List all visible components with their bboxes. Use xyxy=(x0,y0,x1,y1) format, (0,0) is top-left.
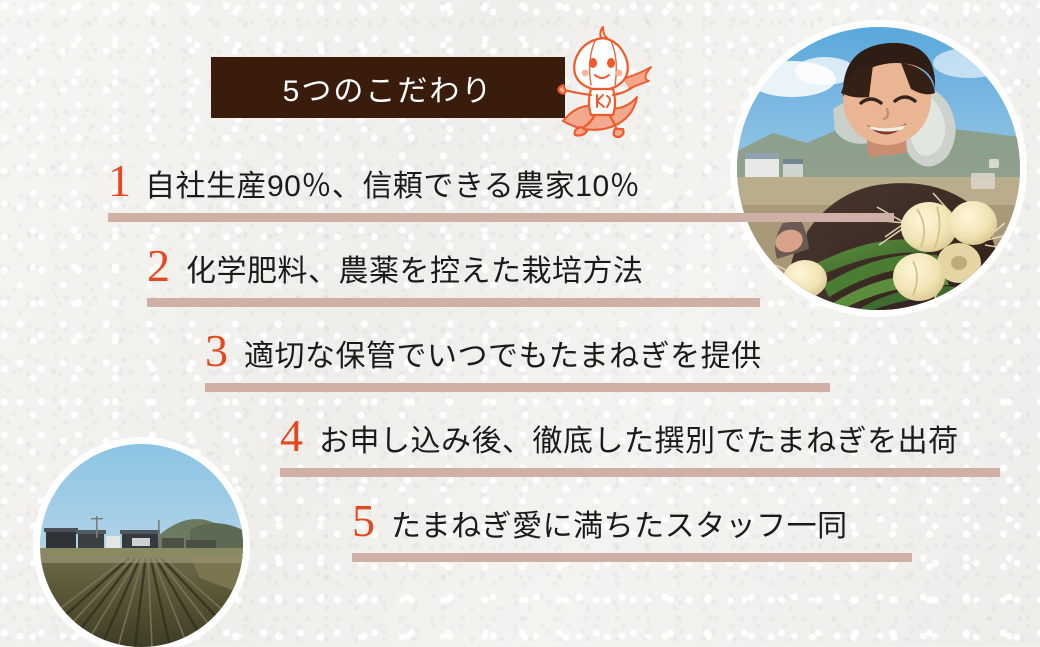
feature-underline-5 xyxy=(352,553,912,562)
feature-number-4: 4 xyxy=(280,413,303,459)
feature-text-1: 自社生産90％、信頼できる農家10％ xyxy=(145,170,640,203)
feature-text-5: たまねぎ愛に満ちたスタッフ一同 xyxy=(391,510,848,543)
feature-number-5: 5 xyxy=(352,498,375,544)
feature-row-4: 4 お申し込み後、徹底した撰別でたまねぎを出荷 xyxy=(280,413,1000,477)
feature-text-2: 化学肥料、農薬を控えた栽培方法 xyxy=(186,255,644,288)
feature-row-3: 3 適切な保管でいつでもたまねぎを提供 xyxy=(205,328,830,392)
feature-underline-3 xyxy=(205,383,830,392)
feature-number-3: 3 xyxy=(205,328,228,374)
feature-text-4: お申し込み後、徹底した撰別でたまねぎを出荷 xyxy=(319,425,959,458)
feature-list: 1 自社生産90％、信頼できる農家10％ 2 化学肥料、農薬を控えた栽培方法 3… xyxy=(0,0,1040,646)
feature-underline-4 xyxy=(280,468,1000,477)
feature-row-5: 5 たまねぎ愛に満ちたスタッフ一同 xyxy=(352,498,912,562)
feature-text-3: 適切な保管でいつでもたまねぎを提供 xyxy=(244,340,762,373)
feature-underline-1 xyxy=(108,213,894,222)
feature-underline-2 xyxy=(147,298,760,307)
onion-character-mascot-icon xyxy=(545,23,657,141)
feature-number-2: 2 xyxy=(147,243,170,289)
feature-number-1: 1 xyxy=(108,158,131,204)
feature-row-1: 1 自社生産90％、信頼できる農家10％ xyxy=(108,158,894,222)
feature-row-2: 2 化学肥料、農薬を控えた栽培方法 xyxy=(147,243,760,307)
